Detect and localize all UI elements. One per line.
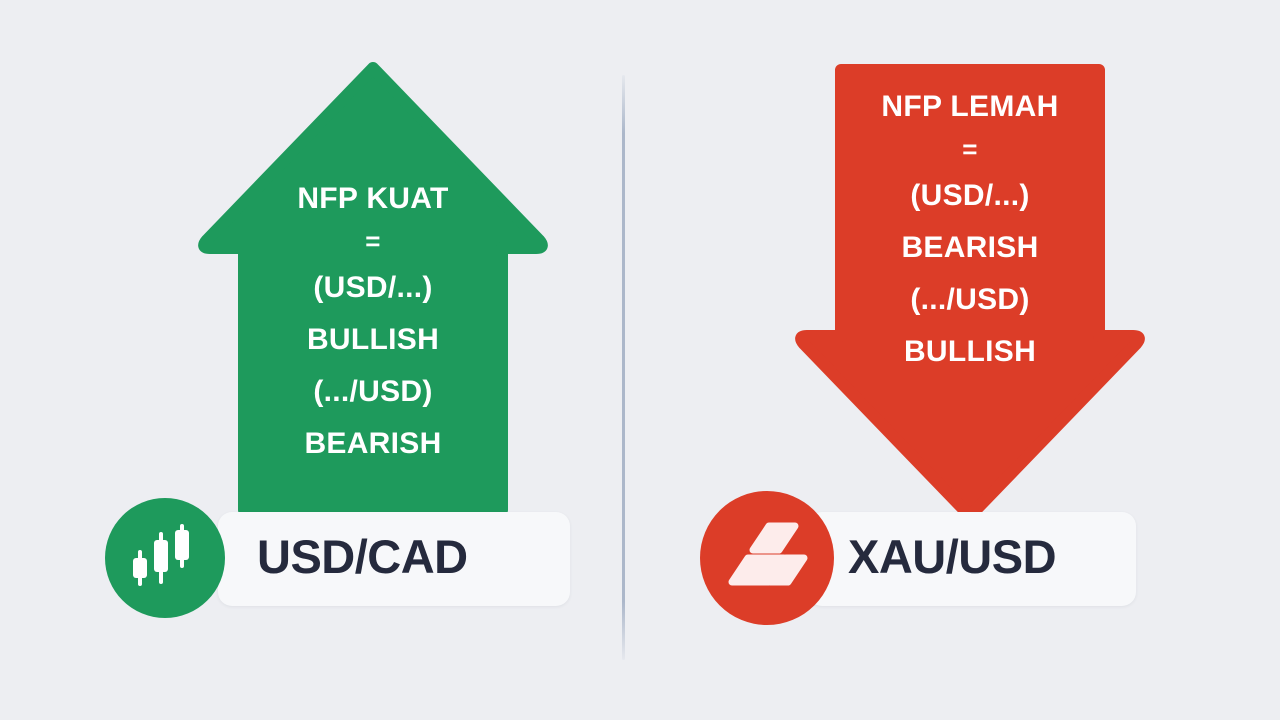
- arrow-up-path: [204, 68, 542, 510]
- arrow-up-shape: [198, 62, 548, 514]
- arrow-down-shape: [795, 62, 1145, 522]
- gold-bars-icon: [726, 520, 808, 596]
- vertical-divider: [622, 75, 625, 660]
- arrow-down-bearish: NFP LEMAH = (USD/...) BEARISH (.../USD) …: [795, 62, 1145, 522]
- instrument-badge-right: [700, 491, 834, 625]
- instrument-label-usd-cad[interactable]: USD/CAD: [105, 510, 570, 606]
- infographic-canvas: NFP KUAT = (USD/...) BULLISH (.../USD) B…: [0, 0, 1280, 720]
- arrow-up-bullish: NFP KUAT = (USD/...) BULLISH (.../USD) B…: [198, 62, 548, 514]
- candlestick-chart-icon: [130, 522, 200, 594]
- instrument-label-xau-usd[interactable]: XAU/USD: [700, 510, 1136, 606]
- panel-xau-usd: NFP LEMAH = (USD/...) BEARISH (.../USD) …: [640, 0, 1280, 720]
- panel-usd-cad: NFP KUAT = (USD/...) BULLISH (.../USD) B…: [0, 0, 640, 720]
- instrument-badge-left: [105, 498, 225, 618]
- instrument-name-left: USD/CAD: [257, 510, 468, 604]
- instrument-name-right: XAU/USD: [848, 510, 1056, 604]
- arrow-down-path: [801, 70, 1139, 516]
